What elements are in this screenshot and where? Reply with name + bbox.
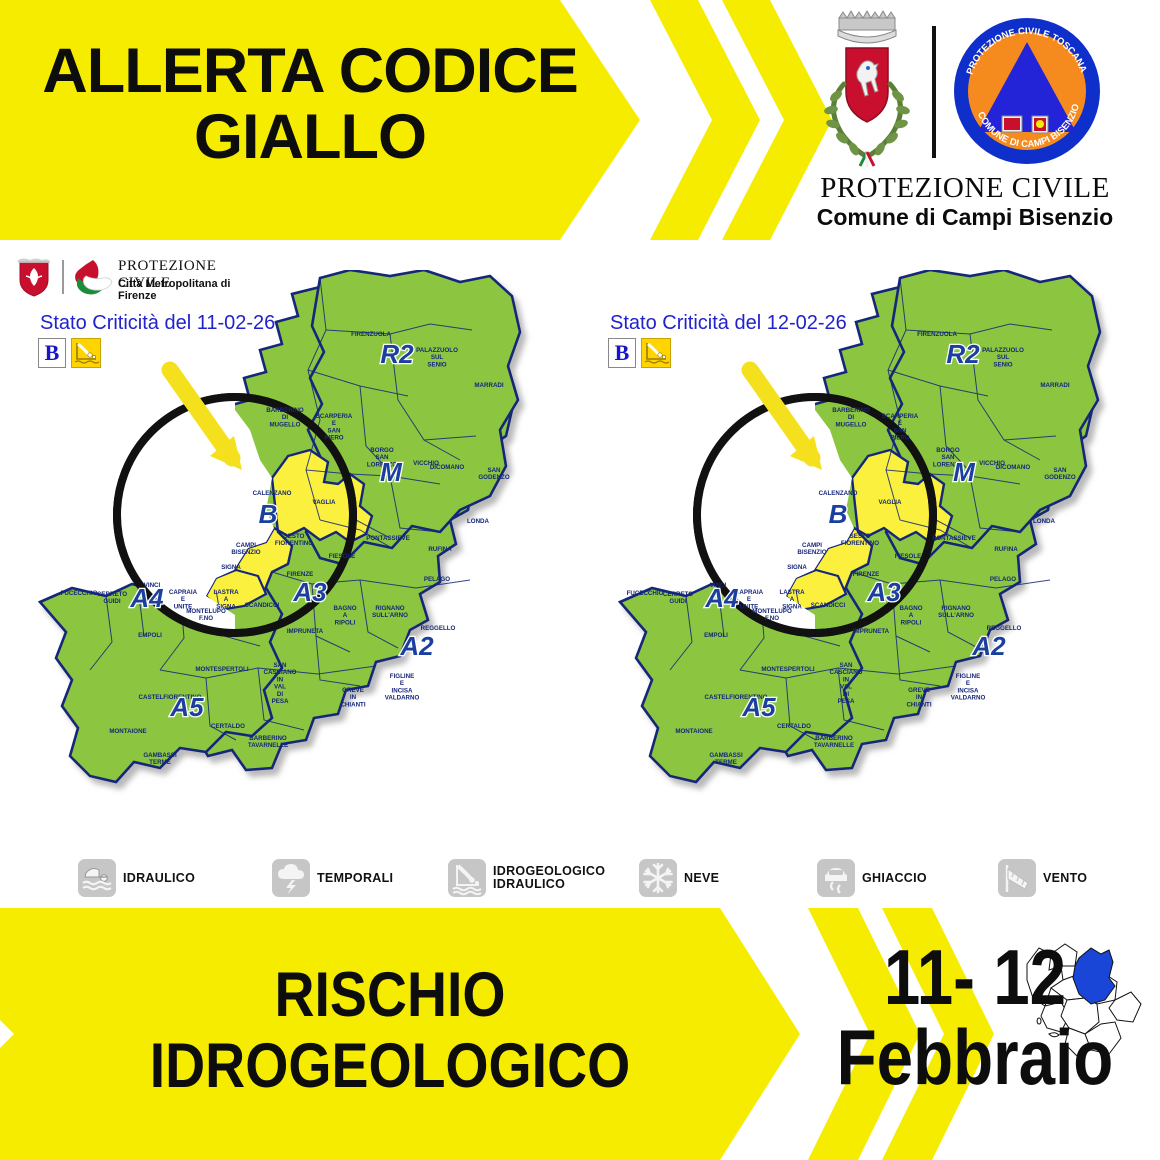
municipality-label: RIGNANOSULL'ARNO — [372, 605, 408, 619]
zone-code-a2: A2 — [971, 631, 1006, 661]
municipality-label: MONTESPERTOLI — [195, 666, 248, 673]
alert-title-line1: ALLERTA CODICE — [20, 38, 600, 104]
municipality-label: MONTAIONE — [109, 728, 146, 735]
municipality-label: FIRENZUOLA — [917, 331, 957, 338]
municipality-label: FIGLINEEINCISAVALDARNO — [951, 673, 986, 702]
zone-code-r2: R2 — [946, 339, 980, 369]
municipality-label: PONTASSIEVE — [932, 535, 976, 542]
risk-legend-item: IDRAULICO — [78, 859, 195, 897]
municipality-label: PELAGO — [424, 576, 450, 583]
municipality-label: MONTELUPOF.NO — [752, 608, 792, 622]
municipality-label: CERTALDO — [211, 723, 245, 730]
zone-code-m: M — [380, 457, 403, 487]
municipality-label: FUCECCHIO — [627, 590, 664, 597]
zone-code-a3: A3 — [292, 577, 327, 607]
municipality-label: CERTALDO — [777, 723, 811, 730]
municipality-label: SCARPERIAESANPIERO — [316, 413, 353, 442]
municipality-label: LONDA — [1033, 518, 1056, 525]
municipality-label: EMPOLI — [704, 632, 728, 639]
risk-legend-label: IDRAULICO — [123, 872, 195, 885]
municipality-label: GAMBASSITERME — [709, 752, 743, 766]
municipality-label: RIGNANOSULL'ARNO — [938, 605, 974, 619]
zone-code-b: B — [829, 499, 848, 529]
municipality-label: BARBERINOTAVARNELLE — [248, 735, 288, 749]
municipality-label: FUCECCHIO — [61, 590, 98, 597]
date-range-month: Febbraio — [828, 1018, 1122, 1098]
municipality-label: FIRENZUOLA — [351, 331, 391, 338]
zone-code-a2: A2 — [399, 631, 434, 661]
zone-code-a4: A4 — [704, 583, 739, 613]
neve-icon — [639, 859, 677, 897]
protezione-civile-toscana-badge-icon: PROTEZIONE CIVILE TOSCANA COMUNE DI CAMP… — [952, 16, 1102, 166]
alert-title-line2: GIALLO — [20, 104, 600, 170]
municipality-label: BAGNOARIPOLI — [899, 605, 922, 626]
municipality-label: SESTOFIORENTINO — [275, 533, 313, 547]
municipality-label: SCANDICCI — [811, 602, 846, 609]
idraulico-icon — [78, 859, 116, 897]
risk-title-line1: RISCHIO — [56, 960, 725, 1031]
municipality-label: MARRADI — [474, 382, 503, 389]
zone-code-r2: R2 — [380, 339, 414, 369]
temporali-icon — [272, 859, 310, 897]
zone-code-a5: A5 — [169, 692, 204, 722]
municipality-label: BARBERINODIMUGELLO — [832, 407, 870, 428]
municipality-label: IMPRUNETA — [853, 628, 890, 635]
municipality-label: MONTAIONE — [675, 728, 712, 735]
risk-legend-item: GHIACCIO — [817, 859, 927, 897]
idrogeologico-idraulico-icon — [448, 859, 486, 897]
risk-legend-label: GHIACCIO — [862, 872, 927, 885]
bottom-banner: RISCHIO IDROGEOLOGICO 11- 12 Febbraio — [0, 908, 1160, 1160]
municipality-label: PONTASSIEVE — [366, 535, 410, 542]
municipality-label: PALAZZUOLOSULSENIO — [982, 347, 1024, 368]
date-range-days: 11- 12 — [884, 933, 1066, 1021]
municipality-label: SCARPERIAESANPIERO — [882, 413, 919, 442]
municipality-label: EMPOLI — [138, 632, 162, 639]
municipality-label: BARBERINOTAVARNELLE — [814, 735, 854, 749]
municipality-label: MONTELUPOF.NO — [186, 608, 226, 622]
risk-legend-label: IDROGEOLOGICO IDRAULICO — [493, 865, 605, 891]
risk-legend-item: IDROGEOLOGICO IDRAULICO — [448, 859, 605, 897]
vento-icon — [998, 859, 1036, 897]
municipality-label: MONTESPERTOLI — [761, 666, 814, 673]
risk-title-line2: IDROGEOLOGICO — [56, 1031, 725, 1102]
municipality-label: SIGNA — [221, 564, 241, 571]
municipality-label: SANGODENZO — [478, 467, 509, 481]
municipality-label: SANGODENZO — [1044, 467, 1075, 481]
municipality-label: BAGNOARIPOLI — [333, 605, 356, 626]
municipality-label: CERRETOGUIDI — [97, 591, 127, 605]
municipality-label: FIESOLE — [895, 553, 921, 560]
municipality-label: LONDA — [467, 518, 490, 525]
risk-title: RISCHIO IDROGEOLOGICO — [56, 960, 725, 1101]
zone-code-a3: A3 — [866, 577, 901, 607]
municipality-label: FIESOLE — [329, 553, 355, 560]
campi-bisenzio-coat-of-arms-icon — [812, 10, 922, 170]
municipality-label: FIGLINEEINCISAVALDARNO — [385, 673, 420, 702]
municipality-label: DICOMANO — [430, 464, 465, 471]
municipality-label: SIGNA — [787, 564, 807, 571]
risk-legend-item: VENTO — [998, 859, 1087, 897]
risk-legend-label: NEVE — [684, 872, 719, 885]
municipality-label: MARRADI — [1040, 382, 1069, 389]
risk-legend-label: VENTO — [1043, 872, 1087, 885]
municipality-label: VAGLIA — [879, 499, 902, 506]
municipality-label: GREVEINCHIANTI — [340, 687, 365, 708]
pc-title: PROTEZIONE CIVILE — [785, 172, 1145, 205]
municipality-label: CAMPIBISENZIO — [797, 542, 826, 556]
map-area: PROTEZIONE CIVILE Città Metropolitana di… — [0, 240, 1160, 910]
zone-code-a5: A5 — [741, 692, 776, 722]
municipality-label: SANCASCIANOINVALDIPESA — [263, 662, 296, 705]
top-banner: ALLERTA CODICE GIALLO — [0, 0, 1160, 240]
zone-code-a4: A4 — [129, 583, 164, 613]
ghiaccio-icon — [817, 859, 855, 897]
zone-code-b: B — [259, 499, 278, 529]
header-logos: PROTEZIONE CIVILE TOSCANA COMUNE DI CAMP… — [790, 4, 1140, 240]
risk-legend-item: TEMPORALI — [272, 859, 393, 897]
risk-legend-label: TEMPORALI — [317, 872, 393, 885]
risk-legend-row: IDRAULICO TEMPORALI IDROGEOLOGICO IDRAUL… — [0, 852, 1160, 904]
municipality-label: BARBERINODIMUGELLO — [266, 407, 304, 428]
risk-legend-item: NEVE — [639, 859, 719, 897]
municipality-label: DICOMANO — [996, 464, 1031, 471]
municipality-label: SANCASCIANOINVALDIPESA — [829, 662, 862, 705]
municipality-label: GREVEINCHIANTI — [906, 687, 931, 708]
municipality-label: CALENZANO — [253, 490, 292, 497]
municipality-label: CALENZANO — [819, 490, 858, 497]
date-range: 11- 12 Febbraio — [828, 938, 1122, 1097]
municipality-label: IMPRUNETA — [287, 628, 324, 635]
logo-divider — [932, 26, 936, 158]
municipality-label: RUFINA — [994, 546, 1018, 553]
municipality-label: PELAGO — [990, 576, 1016, 583]
municipality-label: RUFINA — [428, 546, 452, 553]
municipality-label: SCANDICCI — [245, 602, 280, 609]
zone-code-m: M — [953, 457, 976, 487]
municipality-label: PALAZZUOLOSULSENIO — [416, 347, 458, 368]
municipality-label: CAMPIBISENZIO — [231, 542, 260, 556]
municipality-label: VAGLIA — [313, 499, 336, 506]
alert-title: ALLERTA CODICE GIALLO — [20, 38, 600, 170]
pc-subtitle: Comune di Campi Bisenzio — [785, 204, 1145, 231]
municipality-label: GAMBASSITERME — [143, 752, 177, 766]
map-labels-layer: FIRENZUOLAFIRENZUOLAPALAZZUOLOSULSENIOPA… — [0, 240, 1160, 910]
municipality-label: CERRETOGUIDI — [663, 591, 693, 605]
municipality-label: SESTOFIORENTINO — [841, 533, 879, 547]
